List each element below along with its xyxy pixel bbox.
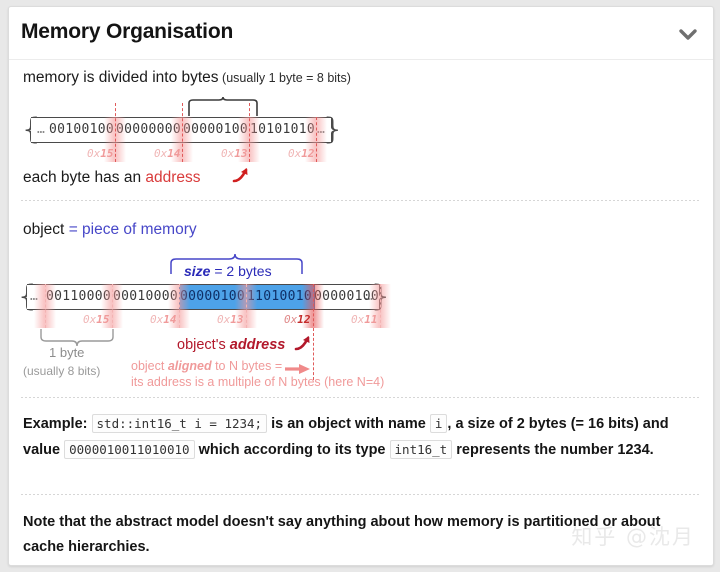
divider-1 (21, 200, 701, 201)
example-code-value: 0000010011010010 (64, 440, 194, 459)
strip1-boundary-dash-3 (316, 117, 317, 162)
watermark: 知乎 @沈月 (571, 521, 695, 551)
strip2-address-0: 0x15 (83, 313, 110, 326)
alignment-line-1: object aligned to N bytes = (131, 359, 282, 373)
strip2-boundary-dash-5 (380, 284, 381, 328)
alignment-line-2: its address is a multiple of N bytes (he… (131, 375, 384, 389)
object-address-em: address (230, 337, 286, 353)
strip2-address-1: 0x14 (150, 313, 177, 326)
object-address-plain: object's (177, 337, 230, 353)
strip1-left-ellipsis: … (37, 117, 45, 143)
divider-2 (21, 397, 701, 398)
strip1-address-1: 0x14 (154, 147, 181, 160)
strip1-address-0: 0x15 (87, 147, 114, 160)
section1-caption: each byte has an address (23, 169, 201, 187)
card-header: Memory Organisation (9, 7, 713, 60)
example-paragraph: Example: std::int16_t i = 1234; is an ob… (23, 411, 699, 463)
section1-heading-note: (usually 1 byte = 8 bits) (222, 71, 351, 85)
example-code-type: int16_t (390, 440, 453, 459)
arrow-right-icon (285, 362, 311, 374)
strip2-boundary-dash-0 (45, 284, 46, 328)
arrow-up-right-icon (231, 165, 251, 185)
section1-caption-accent: address (145, 169, 200, 186)
example-text-1: is an object with name (271, 416, 426, 432)
strip1-boundary-dash-2 (249, 103, 250, 162)
chevron-down-icon[interactable] (677, 23, 699, 45)
strip2-address-4: 0x11 (351, 313, 378, 326)
example-code-decl: std::int16_t i = 1234; (92, 414, 268, 433)
strip2-boundary-dash-1 (112, 284, 113, 328)
section2-heading-accent: = piece of memory (69, 221, 197, 238)
strip1-address-2: 0x13 (221, 147, 248, 160)
section2-heading: object = piece of memory (23, 221, 197, 239)
example-text-4: represents the number 1234. (456, 442, 653, 458)
one-byte-sublabel: (usually 8 bits) (23, 364, 100, 378)
section1-caption-plain: each byte has an (23, 169, 145, 186)
example-label: Example: (23, 416, 87, 432)
strip2-address-3: 0x12 (284, 313, 311, 326)
alignment-line-1-em: aligned (168, 359, 212, 373)
strip1-boundary-dash-1 (182, 103, 183, 162)
alignment-line-1-b: to N bytes = (212, 359, 283, 373)
size-label-rest: = 2 bytes (214, 263, 271, 279)
example-code-name: i (430, 414, 448, 433)
one-byte-label: 1 byte (49, 345, 84, 360)
section1-heading-main: memory is divided into bytes (23, 69, 219, 86)
section1-heading: memory is divided into bytes (usually 1 … (23, 69, 351, 87)
strip2-boundary-dash-4 (313, 284, 314, 380)
example-text-3: which according to its type (199, 442, 386, 458)
section2-heading-main: object (23, 221, 64, 238)
divider-3 (21, 494, 701, 495)
strip1-boundary-dash-0 (115, 103, 116, 162)
alignment-line-1-a: object (131, 359, 168, 373)
strip2-boundary-dash-2 (179, 284, 180, 328)
page-title: Memory Organisation (21, 20, 233, 44)
arrow-up-right-icon-2 (293, 333, 313, 353)
memory-strip-2: { { … … 00110000 00010000 00000100 11010… (27, 284, 379, 310)
size-label-em: size (184, 263, 210, 279)
strip2-boundary-dash-3 (246, 284, 247, 328)
strip2-address-2: 0x13 (217, 313, 244, 326)
strip1-address-3: 0x12 (288, 147, 315, 160)
memory-organisation-card: Memory Organisation memory is divided in… (8, 6, 714, 566)
size-label: size = 2 bytes (184, 263, 272, 279)
object-address-label: object's address (177, 337, 285, 353)
